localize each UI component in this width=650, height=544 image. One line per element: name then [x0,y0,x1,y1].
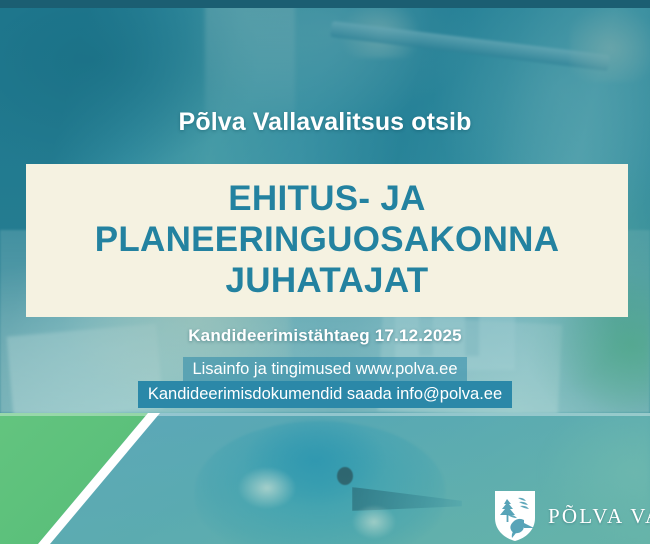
logo-wordmark: PÕLVA VALD [548,504,650,529]
job-title-line-3: JUHATAJAT [36,260,618,301]
application-deadline: Kandideerimistähtaeg 17.12.2025 [0,326,650,346]
polva-vald-logo: PÕLVA VALD [494,490,650,542]
kicker-text: Põlva Vallavalitsus otsib [0,108,650,137]
job-advert-poster: Põlva Vallavalitsus otsib EHITUS- JA PLA… [0,0,650,544]
info-block: Lisainfo ja tingimused www.polva.ee Kand… [0,357,650,408]
bottom-photo-top-edge [0,413,650,416]
job-title-line-1: EHITUS- JA [36,178,618,219]
info-line-email: Kandideerimisdokumendid saada info@polva… [138,381,512,408]
job-title-card: EHITUS- JA PLANEERINGUOSAKONNA JUHATAJAT [26,164,628,317]
coat-of-arms-shield-icon [494,490,536,542]
photo-top-edge-band [0,0,650,8]
info-line-website: Lisainfo ja tingimused www.polva.ee [183,357,466,381]
job-title-line-2: PLANEERINGUOSAKONNA [36,219,618,260]
